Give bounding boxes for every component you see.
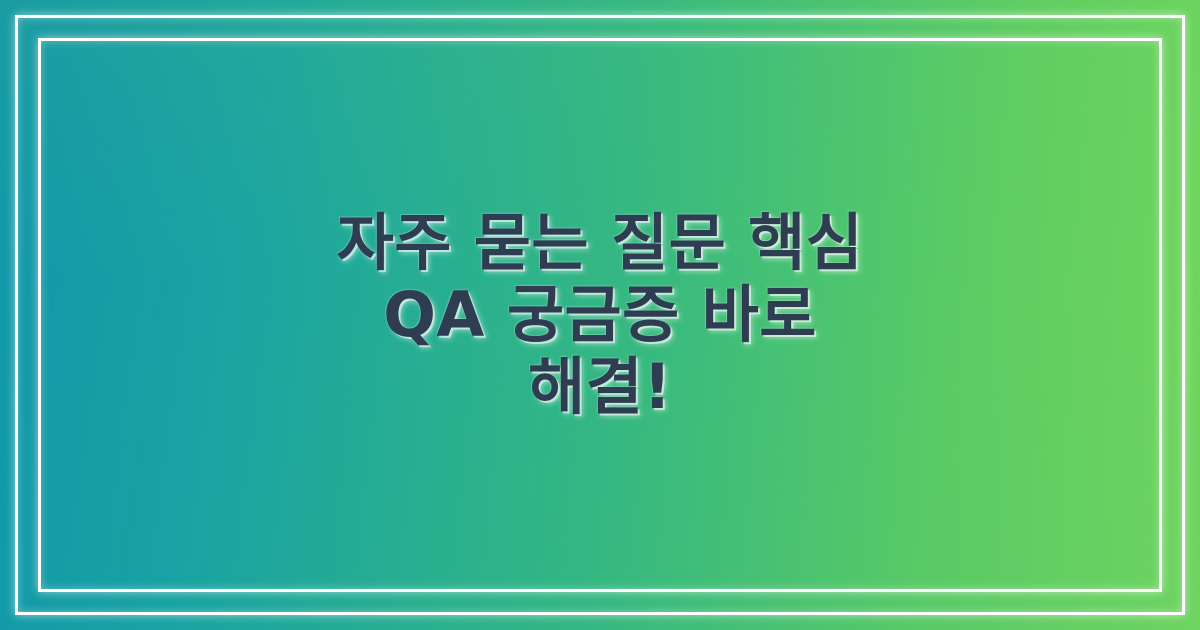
poster-canvas: 자주 묻는 질문 핵심 QA 궁금증 바로 해결! xyxy=(0,0,1200,630)
poster-headline: 자주 묻는 질문 핵심 QA 궁금증 바로 해결! xyxy=(290,207,910,423)
headline-container: 자주 묻는 질문 핵심 QA 궁금증 바로 해결! xyxy=(0,0,1200,630)
